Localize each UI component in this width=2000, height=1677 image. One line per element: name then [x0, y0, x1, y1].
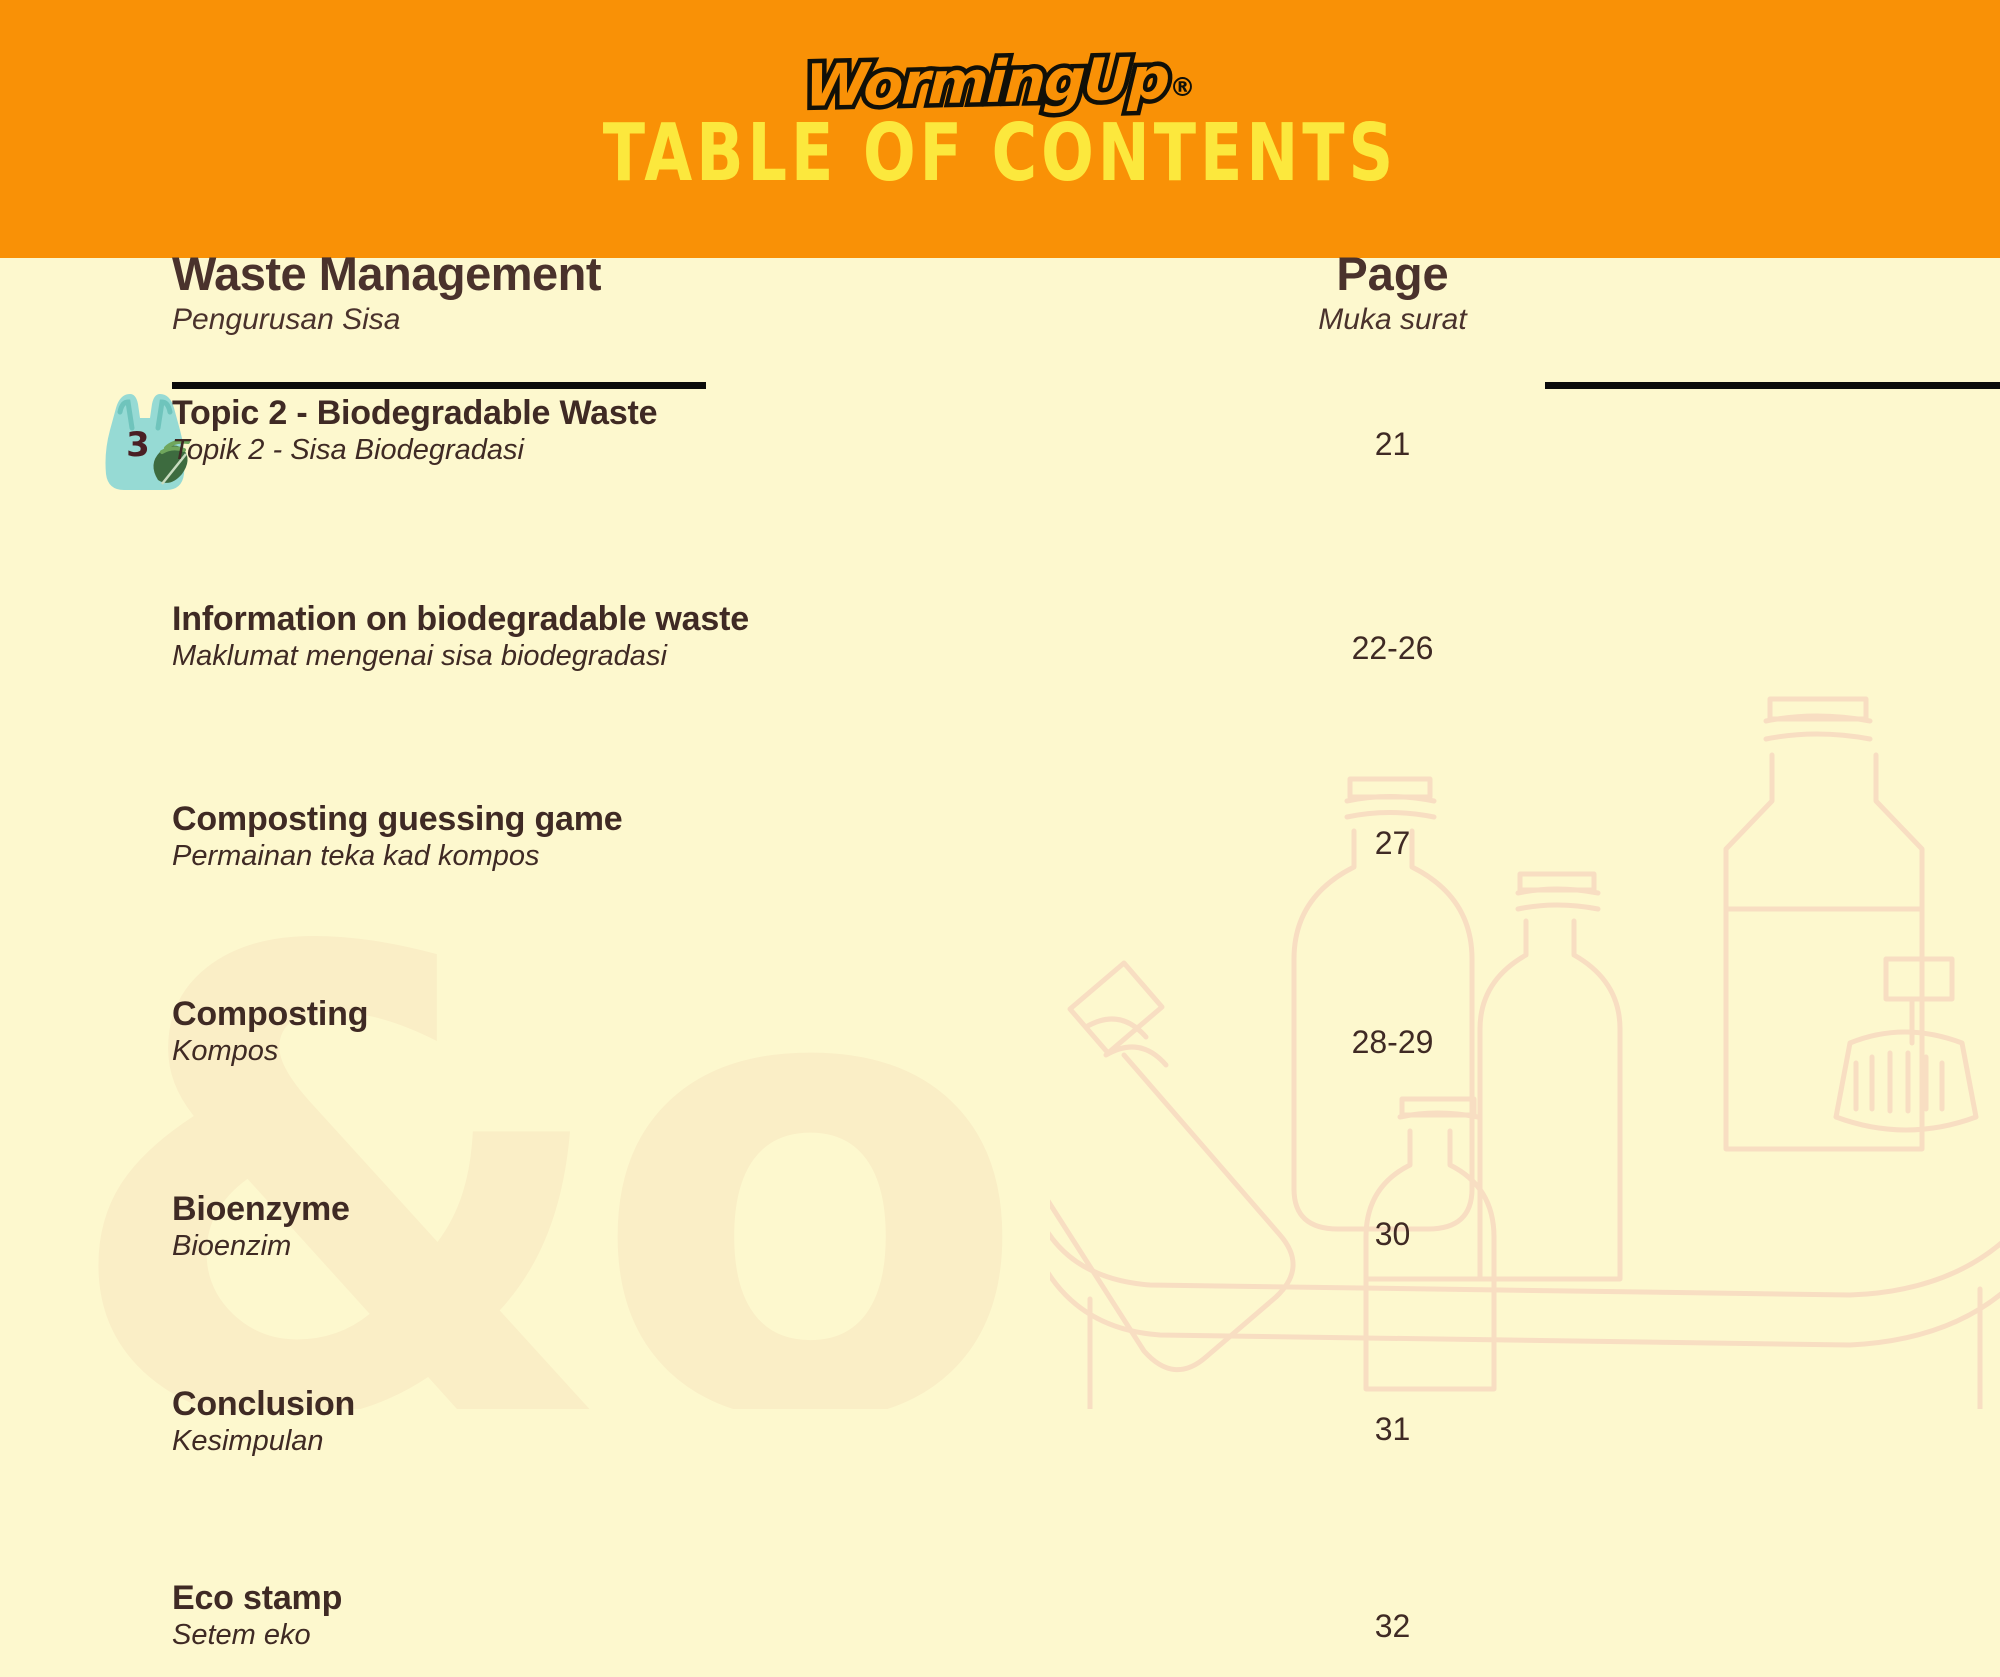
topic-number: 3	[126, 425, 150, 465]
registered-trademark-icon: ®	[1170, 73, 1196, 103]
list-item[interactable]: Composting guessing game Permainan teka …	[0, 800, 2000, 898]
list-item-subtitle: Bioenzim	[172, 1230, 350, 1263]
section-subtitle: Pengurusan Sisa	[172, 303, 601, 337]
page-number: 32	[1140, 1608, 1645, 1645]
list-item[interactable]: Information on biodegradable waste Maklu…	[0, 600, 2000, 698]
list-item[interactable]: 3 Topic 2 - Biodegradable Waste Topik 2 …	[0, 394, 2000, 492]
page-number: 31	[1140, 1411, 1645, 1448]
list-item-text: Bioenzyme Bioenzim	[172, 1190, 350, 1263]
list-item-title: Topic 2 - Biodegradable Waste	[172, 394, 657, 433]
page-number: 22-26	[1140, 630, 1645, 667]
list-item-subtitle: Topik 2 - Sisa Biodegradasi	[172, 434, 657, 467]
column-headers: Waste Management Pengurusan Sisa Page Mu…	[0, 258, 2000, 388]
section-header-left: Waste Management Pengurusan Sisa	[172, 246, 601, 337]
page-number: 21	[1140, 426, 1645, 463]
page-number: 30	[1140, 1216, 1645, 1253]
list-item-subtitle: Kompos	[172, 1035, 368, 1068]
list-item-title: Composting	[172, 995, 368, 1034]
list-item-title: Information on biodegradable waste	[172, 600, 749, 639]
list-item-subtitle: Permainan teka kad kompos	[172, 840, 622, 873]
page-number: 27	[1140, 825, 1645, 862]
list-item-subtitle: Setem eko	[172, 1619, 342, 1652]
section-title: Waste Management	[172, 246, 601, 301]
list-item-title: Conclusion	[172, 1385, 355, 1424]
list-item[interactable]: Eco stamp Setem eko 32	[0, 1579, 2000, 1677]
list-item-text: Information on biodegradable waste Maklu…	[172, 600, 749, 673]
list-item-text: Composting Kompos	[172, 995, 368, 1068]
contents-body: Waste Management Pengurusan Sisa Page Mu…	[0, 258, 2000, 1409]
divider-right	[1545, 382, 2000, 389]
page-header-band: WormingUp® TABLE OF CONTENTS	[0, 0, 2000, 258]
list-item-title: Bioenzyme	[172, 1190, 350, 1229]
list-item[interactable]: Bioenzyme Bioenzim 30	[0, 1190, 2000, 1288]
list-item-text: Conclusion Kesimpulan	[172, 1385, 355, 1458]
page-column-header: Page Muka surat	[1140, 246, 1645, 337]
page-column-title: Page	[1140, 246, 1645, 301]
page-number: 28-29	[1140, 1024, 1645, 1061]
page-title: TABLE OF CONTENTS	[0, 106, 2000, 199]
divider-left	[172, 382, 706, 389]
list-item[interactable]: Composting Kompos 28-29	[0, 995, 2000, 1093]
list-item-subtitle: Kesimpulan	[172, 1425, 355, 1458]
list-item-title: Eco stamp	[172, 1579, 342, 1618]
list-item-subtitle: Maklumat mengenai sisa biodegradasi	[172, 640, 749, 673]
contents-list: 3 Topic 2 - Biodegradable Waste Topik 2 …	[0, 394, 2000, 1080]
list-item-text: Eco stamp Setem eko	[172, 1579, 342, 1652]
list-item-text: Composting guessing game Permainan teka …	[172, 800, 622, 873]
list-item-title: Composting guessing game	[172, 800, 622, 839]
list-item-text: Topic 2 - Biodegradable Waste Topik 2 - …	[172, 394, 657, 467]
list-item[interactable]: Conclusion Kesimpulan 31	[0, 1385, 2000, 1483]
page-column-subtitle: Muka surat	[1140, 303, 1645, 337]
